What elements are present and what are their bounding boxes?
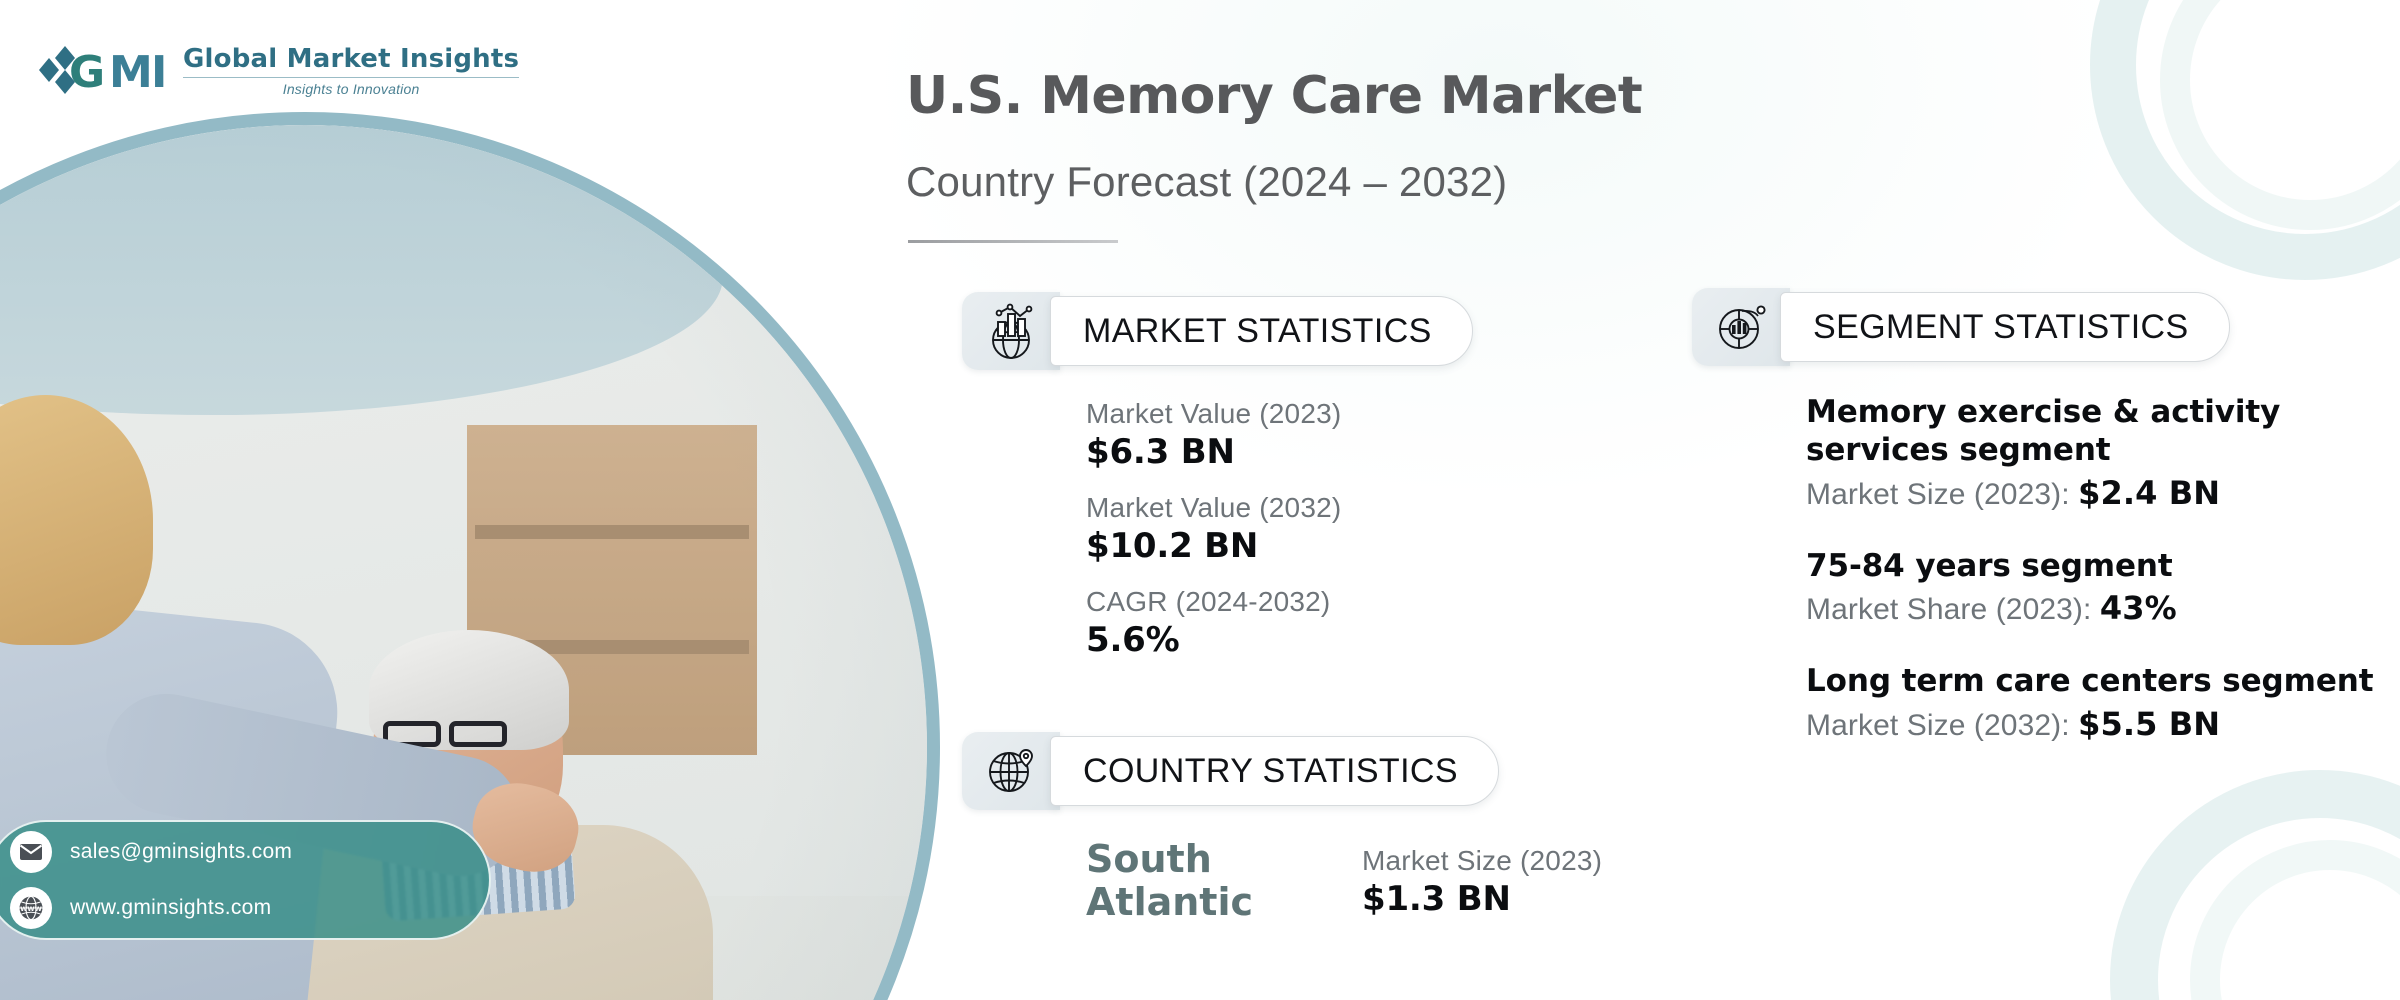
market-value-2032: Market Value (2032) $10.2 BN [1086, 492, 1341, 566]
market-statistics-label: MARKET STATISTICS [1050, 296, 1473, 366]
page-title: U.S. Memory Care Market [906, 66, 1642, 126]
gmi-logomark-icon: G M I [33, 42, 173, 98]
country-market-size-value: $1.3 BN [1362, 879, 1602, 919]
segment-item-metric-value: 43% [2100, 589, 2177, 627]
infographic-canvas: G M I Global Market Insights Insights to… [0, 0, 2400, 1000]
segment-item-title: Memory exercise & activity services segm… [1806, 394, 2386, 470]
contact-website-text: www.gminsights.com [70, 896, 271, 920]
logo-tagline: Insights to Innovation [183, 82, 519, 96]
segment-item-metric-label: Market Size (2023): [1806, 478, 2078, 511]
market-statistics-header[interactable]: MARKET STATISTICS [962, 292, 1473, 370]
brand-logo[interactable]: G M I Global Market Insights Insights to… [33, 42, 519, 98]
market-value-2023-label: Market Value (2023) [1086, 398, 1341, 430]
segment-item-metric-label: Market Size (2032): [1806, 709, 2078, 742]
market-value-2032-value: $10.2 BN [1086, 526, 1341, 566]
market-cagr-value: 5.6% [1086, 620, 1341, 660]
contact-email-row[interactable]: sales@gminsights.com [10, 831, 489, 873]
logo-divider [183, 77, 519, 78]
segment-item-metric-label: Market Share (2023): [1806, 593, 2100, 626]
segment-statistics-label: SEGMENT STATISTICS [1780, 292, 2230, 362]
donut-chart-icon [1692, 288, 1790, 366]
globe-www-icon: WWW [10, 887, 52, 929]
contact-email-text: sales@gminsights.com [70, 840, 292, 864]
envelope-icon [10, 831, 52, 873]
segment-item: 75-84 years segment Market Share (2023):… [1806, 548, 2386, 628]
market-value-2023-value: $6.3 BN [1086, 432, 1341, 472]
globe-bar-chart-icon [962, 292, 1060, 370]
market-statistics-values: Market Value (2023) $6.3 BN Market Value… [1086, 398, 1341, 680]
segment-item-metric: Market Size (2032): $5.5 BN [1806, 705, 2386, 743]
market-cagr-label: CAGR (2024-2032) [1086, 586, 1341, 618]
country-market-size-label: Market Size (2023) [1362, 845, 1602, 877]
page-subtitle: Country Forecast (2024 – 2032) [906, 158, 1507, 206]
segment-item-metric: Market Share (2023): 43% [1806, 589, 2386, 627]
svg-text:M: M [109, 47, 153, 98]
svg-text:WWW: WWW [20, 905, 42, 913]
segment-statistics-list: Memory exercise & activity services segm… [1806, 394, 2386, 773]
logo-company-name: Global Market Insights [183, 46, 519, 72]
segment-item: Memory exercise & activity services segm… [1806, 394, 2386, 512]
segment-item-title: Long term care centers segment [1806, 663, 2386, 701]
country-region-name: South Atlantic [1086, 838, 1276, 923]
svg-text:G: G [69, 47, 105, 98]
contact-website-row[interactable]: WWW www.gminsights.com [10, 887, 489, 929]
segment-item-metric-value: $5.5 BN [2078, 705, 2220, 743]
contact-bar: sales@gminsights.com WWW www.gminsights.… [0, 820, 491, 940]
country-statistics-header[interactable]: COUNTRY STATISTICS [962, 732, 1499, 810]
svg-text:I: I [151, 47, 167, 98]
segment-statistics-header[interactable]: SEGMENT STATISTICS [1692, 288, 2230, 366]
market-value-2032-label: Market Value (2032) [1086, 492, 1341, 524]
segment-item-title: 75-84 years segment [1806, 548, 2386, 586]
country-statistics-label: COUNTRY STATISTICS [1050, 736, 1499, 806]
segment-item-metric: Market Size (2023): $2.4 BN [1806, 474, 2386, 512]
segment-item-metric-value: $2.4 BN [2078, 474, 2220, 512]
market-cagr: CAGR (2024-2032) 5.6% [1086, 586, 1341, 660]
country-market-size: Market Size (2023) $1.3 BN [1362, 845, 1602, 919]
title-underline [908, 240, 1118, 243]
market-value-2023: Market Value (2023) $6.3 BN [1086, 398, 1341, 472]
segment-item: Long term care centers segment Market Si… [1806, 663, 2386, 743]
globe-pin-icon [962, 732, 1060, 810]
